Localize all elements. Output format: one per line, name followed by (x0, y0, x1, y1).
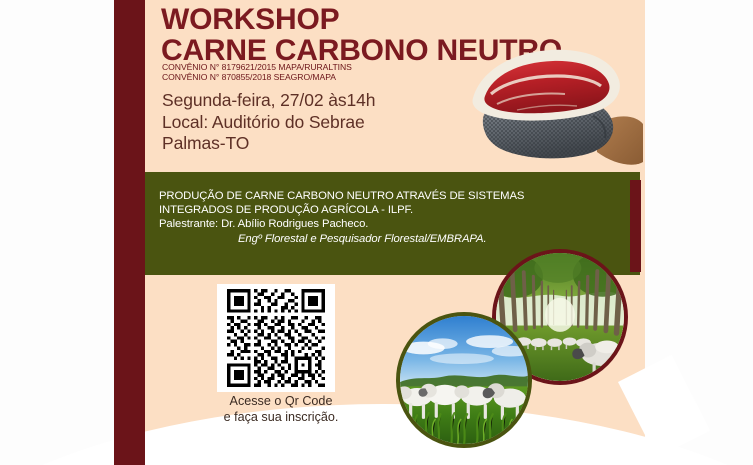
convenio-line-2: CONVÊNIO N° 870855/2018 SEAGRO/MAPA (162, 72, 352, 82)
event-city: Palmas-TO (162, 133, 375, 155)
banner-line-4: Engº Florestal e Pesquisador Florestal/E… (159, 232, 524, 246)
event-venue: Local: Auditório do Sebrae (162, 112, 375, 134)
description-banner-text: PRODUÇÃO DE CARNE CARBONO NEUTRO ATRAVÉS… (159, 189, 524, 246)
event-date: Segunda-feira, 27/02 às14h (162, 90, 375, 112)
banner-line-2: INTEGRADOS DE PRODUÇÃO AGRÍCOLA - ILPF. (159, 203, 524, 217)
cattle-pasture-photo (396, 312, 532, 448)
workshop-poster: WORKSHOP CARNE CARBONO NEUTRO CONVÊNIO N… (0, 0, 753, 465)
banner-line-3: Palestrante: Dr. Abílio Rodrigues Pachec… (159, 217, 524, 231)
left-red-sidebar (114, 0, 145, 465)
convenio-line-1: CONVÊNIO N° 8179621/2015 MAPA/RURALTINS (162, 62, 352, 72)
qr-code-caption: Acesse o Qr Code e faça sua inscrição. (196, 394, 366, 425)
qr-caption-line-1: Acesse o Qr Code (196, 394, 366, 410)
event-details-block: Segunda-feira, 27/02 às14h Local: Auditó… (162, 90, 375, 155)
steak-photo (447, 32, 643, 174)
banner-right-red-accent (630, 180, 641, 272)
qr-caption-line-2: e faça sua inscrição. (196, 410, 366, 426)
banner-line-1: PRODUÇÃO DE CARNE CARBONO NEUTRO ATRAVÉS… (159, 189, 524, 203)
headline-line-1: WORKSHOP (161, 4, 562, 35)
convenio-block: CONVÊNIO N° 8179621/2015 MAPA/RURALTINS … (162, 62, 352, 82)
qr-code[interactable] (217, 284, 335, 392)
